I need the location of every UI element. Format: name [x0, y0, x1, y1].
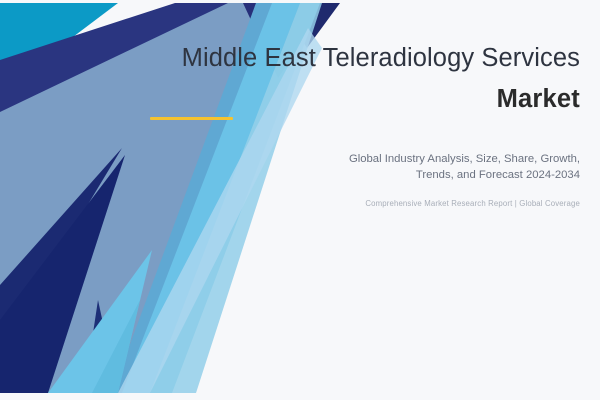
report-tagline: Comprehensive Market Research Report | G…: [180, 198, 580, 210]
report-cover: Middle East Teleradiology Services Marke…: [0, 0, 600, 400]
page-title: Middle East Teleradiology Services: [150, 41, 580, 75]
subtitle-line-2: Trends, and Forecast 2024-2034: [180, 168, 580, 184]
market-heading: Market: [497, 84, 580, 114]
shape-bottom-accent: [92, 300, 140, 393]
shape-bottom-sky-stripe: [48, 250, 152, 393]
shape-navy-spike: [0, 148, 122, 350]
report-subtitle: Global Industry Analysis, Size, Share, G…: [180, 152, 580, 183]
shape-deep-navy-wedge: [0, 155, 125, 393]
shape-navy-sliver: [84, 300, 118, 393]
subtitle-line-1: Global Industry Analysis, Size, Share, G…: [180, 152, 580, 168]
shape-cyan-wedge: [0, 3, 118, 92]
market-accent-underline: [150, 117, 233, 120]
cover-text-block: Middle East Teleradiology Services Marke…: [150, 0, 580, 400]
market-heading-wrap: Market: [150, 84, 580, 120]
